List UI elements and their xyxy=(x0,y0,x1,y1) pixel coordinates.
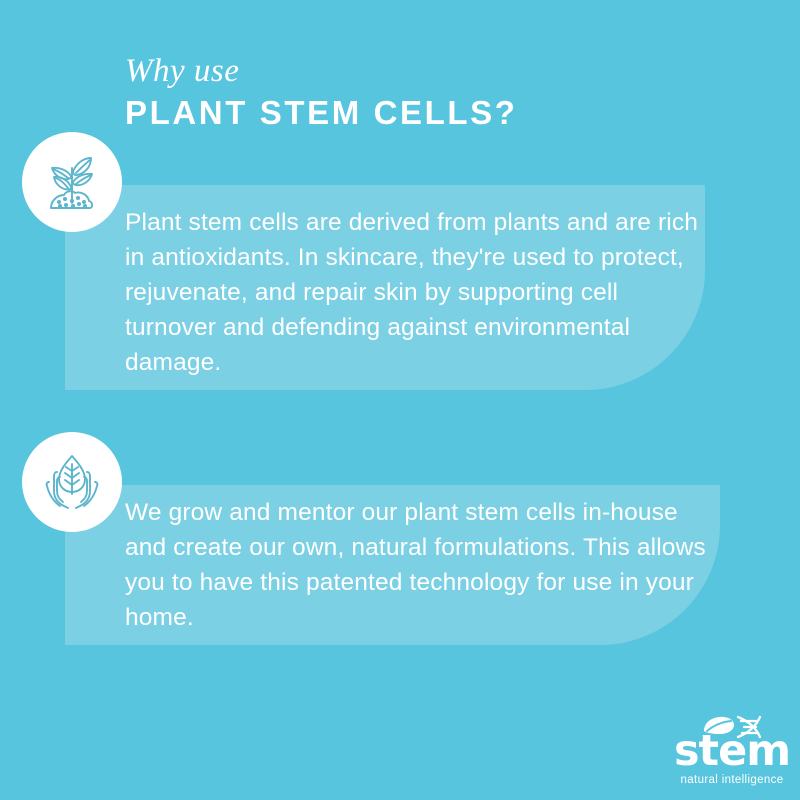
seedling-icon xyxy=(36,146,108,218)
logo-tagline: natural intelligence xyxy=(672,774,792,787)
title-eyebrow: Why use xyxy=(125,52,725,90)
hands-holding-leaf-icon xyxy=(36,446,108,518)
brand-logo: stem natural intelligence xyxy=(672,712,792,790)
icon-badge-2 xyxy=(22,432,122,532)
page-title: Why use PLANT STEM CELLS? xyxy=(125,52,725,134)
body-text-2: We grow and mentor our plant stem cells … xyxy=(125,495,715,635)
title-heading: PLANT STEM CELLS? xyxy=(125,92,725,134)
body-text-1: Plant stem cells are derived from plants… xyxy=(125,205,705,380)
logo-wordmark: stem xyxy=(672,730,792,773)
poster-canvas: Why use PLANT STEM CELLS? Plant stem cel… xyxy=(0,0,800,800)
icon-badge-1 xyxy=(22,132,122,232)
